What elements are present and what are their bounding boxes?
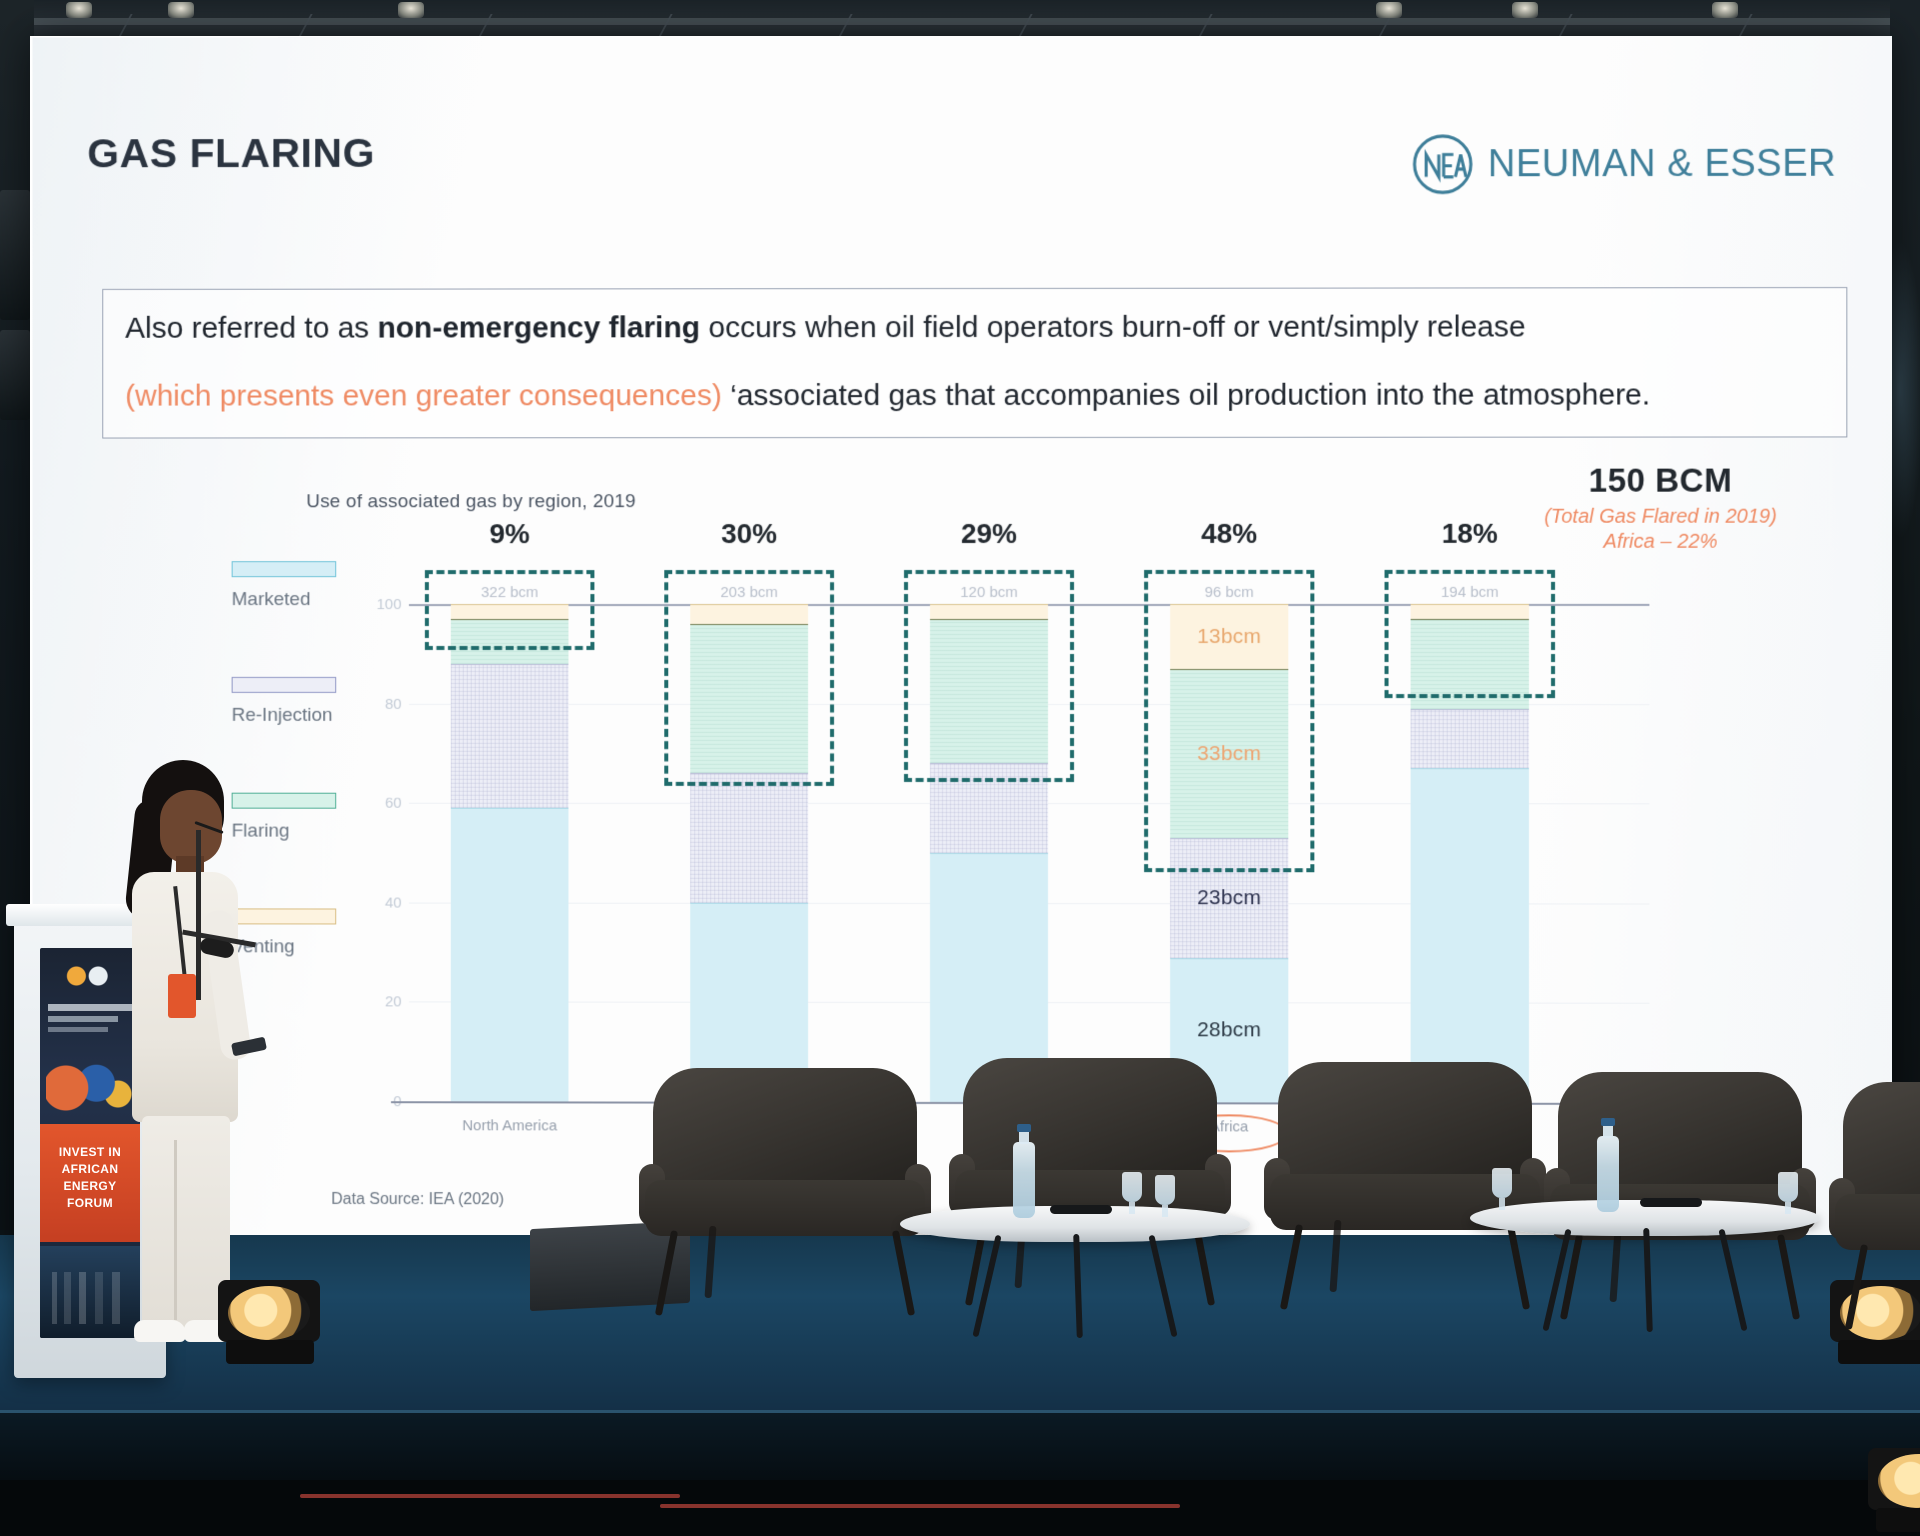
truss-bar-upper bbox=[0, 18, 1920, 25]
x-label-eurasia: Eurasia bbox=[899, 1118, 1079, 1135]
company-logo-text: NEUMAN & ESSER bbox=[1488, 142, 1836, 186]
company-logo: NEUMAN & ESSER bbox=[1412, 133, 1837, 196]
stage-front-edge bbox=[0, 1410, 1920, 1480]
presentation-slide: GAS FLARING NEUMAN & ESSER Also referred… bbox=[33, 36, 1892, 1254]
room-wall-left bbox=[0, 0, 34, 1230]
y-tick-20: 20 bbox=[362, 993, 402, 1010]
legend-item-venting: Venting bbox=[232, 908, 406, 958]
ceiling-light-icon bbox=[66, 2, 92, 18]
room-wall-right bbox=[1890, 0, 1920, 1230]
pa-speaker bbox=[0, 330, 30, 420]
floor-area bbox=[0, 1480, 1920, 1536]
segment-reinjection bbox=[690, 773, 808, 902]
segment-marketed: 28bcm bbox=[1170, 958, 1288, 1103]
chart-container: Use of associated gas by region, 2019 15… bbox=[33, 435, 1892, 1254]
page-title: GAS FLARING bbox=[87, 130, 375, 177]
segment-marketed bbox=[1411, 768, 1529, 1102]
stage-floor bbox=[0, 1235, 1920, 1410]
flared-share-eurasia: 29% bbox=[909, 518, 1069, 550]
highlight-box-middle-east bbox=[664, 570, 834, 786]
y-tick-80: 80 bbox=[362, 695, 402, 712]
ceiling-light-icon bbox=[398, 2, 424, 18]
pa-speaker bbox=[0, 190, 30, 320]
highlight-box-north-america bbox=[425, 570, 595, 650]
legend-swatch-marketed bbox=[232, 561, 337, 577]
y-tick-60: 60 bbox=[362, 794, 402, 811]
definition-line2-part-b: ‘associated gas that accompanies oil pro… bbox=[722, 378, 1650, 412]
total-bcm-north-america: 322 bcm bbox=[430, 584, 590, 601]
ceiling-light-icon bbox=[1376, 2, 1402, 18]
chart-plot-area: 100 80 60 40 20 0 bbox=[409, 604, 1649, 1103]
total-bcm-africa: 96 bcm bbox=[1149, 584, 1309, 601]
total-bcm-middle-east: 203 bcm bbox=[669, 584, 829, 601]
projection-screen: GAS FLARING NEUMAN & ESSER Also referred… bbox=[30, 36, 1892, 1254]
ceiling-light-icon bbox=[1512, 2, 1538, 18]
definition-line1-part-c: occurs when oil field operators burn-off… bbox=[700, 310, 1526, 344]
legend-swatch-flaring bbox=[232, 793, 337, 809]
floor-cable bbox=[660, 1504, 1180, 1508]
highlight-box-eurasia bbox=[904, 570, 1074, 782]
legend-swatch-reinjection bbox=[232, 677, 337, 693]
definition-line1-part-a: Also referred to as bbox=[125, 312, 377, 345]
definition-consequence-phrase: (which presents even greater consequence… bbox=[125, 379, 722, 412]
legend-label-venting: Venting bbox=[232, 936, 406, 958]
ceiling-light-icon bbox=[1712, 2, 1738, 18]
highlight-box-africa bbox=[1144, 570, 1314, 872]
segment-label-reinjection: 23bcm bbox=[1170, 887, 1288, 911]
y-tick-40: 40 bbox=[362, 894, 402, 911]
flared-share-africa: 48% bbox=[1149, 518, 1309, 550]
africa-highlight-ellipse bbox=[1170, 1114, 1288, 1152]
x-label-rest-of-world: Rest of world bbox=[1380, 1119, 1561, 1136]
segment-marketed bbox=[930, 853, 1048, 1102]
chart-subtitle: Use of associated gas by region, 2019 bbox=[306, 491, 636, 513]
segment-label-marketed: 28bcm bbox=[1170, 1019, 1288, 1043]
ceiling-light-icon bbox=[168, 2, 194, 18]
x-label-north-america: North America bbox=[420, 1117, 600, 1134]
legend-swatch-venting bbox=[232, 908, 337, 924]
definition-line-1: Also referred to as non-emergency flarin… bbox=[125, 310, 1526, 345]
definition-textbox: Also referred to as non-emergency flarin… bbox=[102, 287, 1847, 438]
flared-share-north-america: 9% bbox=[430, 518, 590, 550]
flared-share-rest-of-world: 18% bbox=[1390, 518, 1550, 550]
segment-marketed bbox=[451, 808, 569, 1102]
flared-share-middle-east: 30% bbox=[669, 518, 829, 550]
x-label-middle-east: Middle East bbox=[659, 1118, 839, 1135]
y-tick-100: 100 bbox=[362, 596, 402, 613]
bar-north-america[interactable] bbox=[451, 604, 569, 1101]
total-flared-value: 150 BCM bbox=[1495, 462, 1826, 500]
total-bcm-eurasia: 120 bcm bbox=[909, 584, 1069, 601]
segment-reinjection bbox=[451, 664, 569, 808]
segment-reinjection bbox=[1411, 709, 1529, 769]
segment-marketed bbox=[690, 903, 808, 1102]
definition-line-2: (which presents even greater consequence… bbox=[125, 378, 1650, 413]
data-source-note: Data Source: IEA (2020) bbox=[331, 1191, 504, 1209]
floor-cable bbox=[300, 1494, 680, 1498]
nea-circle-logo-icon bbox=[1412, 133, 1474, 195]
total-bcm-rest-of-world: 194 bcm bbox=[1390, 584, 1550, 601]
definition-term-bold: non-emergency flaring bbox=[378, 311, 701, 344]
legend-label-flaring: Flaring bbox=[232, 821, 406, 843]
